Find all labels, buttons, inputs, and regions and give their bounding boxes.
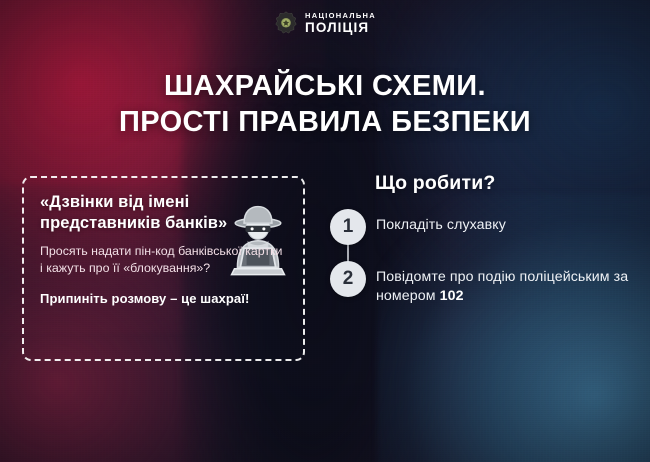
- step-text: Повідомте про подію поліцейським за номе…: [376, 261, 638, 306]
- step-number-badge: 2: [330, 261, 366, 297]
- step-item: 1 Покладіть слухавку: [330, 209, 638, 245]
- step-text: Покладіть слухавку: [376, 209, 506, 235]
- page-title: ШАХРАЙСЬКІ СХЕМИ. ПРОСТІ ПРАВИЛА БЕЗПЕКИ: [0, 69, 650, 140]
- step-text-main: Повідомте про подію поліцейським за номе…: [376, 269, 628, 304]
- scam-scenario-card: «Дзвінки від імені представників банків»…: [22, 176, 305, 361]
- page-title-line-1: ШАХРАЙСЬКІ СХЕМИ.: [164, 70, 486, 102]
- infographic-poster: НАЦІОНАЛЬНА ПОЛІЦІЯ ШАХРАЙСЬКІ СХЕМИ. ПР…: [0, 0, 650, 462]
- steps-list: 1 Покладіть слухавку 2 Повідомте про под…: [330, 209, 638, 306]
- brand-line-1: НАЦІОНАЛЬНА: [305, 12, 376, 20]
- brand-logo-text: НАЦІОНАЛЬНА ПОЛІЦІЯ: [305, 12, 376, 35]
- step-item: 2 Повідомте про подію поліцейським за но…: [330, 261, 638, 306]
- scam-card-body: Просять надати пін-код банківської картк…: [40, 243, 287, 278]
- emergency-number: 102: [440, 288, 464, 304]
- brand-line-2: ПОЛІЦІЯ: [305, 21, 376, 35]
- scam-card-warning: Припиніть розмову – це шахраї!: [40, 291, 287, 306]
- step-number-badge: 1: [330, 209, 366, 245]
- page-title-line-2: ПРОСТІ ПРАВИЛА БЕЗПЕКИ: [0, 105, 650, 140]
- what-to-do-heading: Що робити?: [375, 172, 638, 195]
- what-to-do-section: Що робити? 1 Покладіть слухавку 2 Повідо…: [330, 172, 638, 306]
- police-emblem-icon: [274, 11, 298, 35]
- brand-logo: НАЦІОНАЛЬНА ПОЛІЦІЯ: [0, 11, 650, 35]
- scam-card-heading: «Дзвінки від імені представників банків»: [40, 192, 236, 234]
